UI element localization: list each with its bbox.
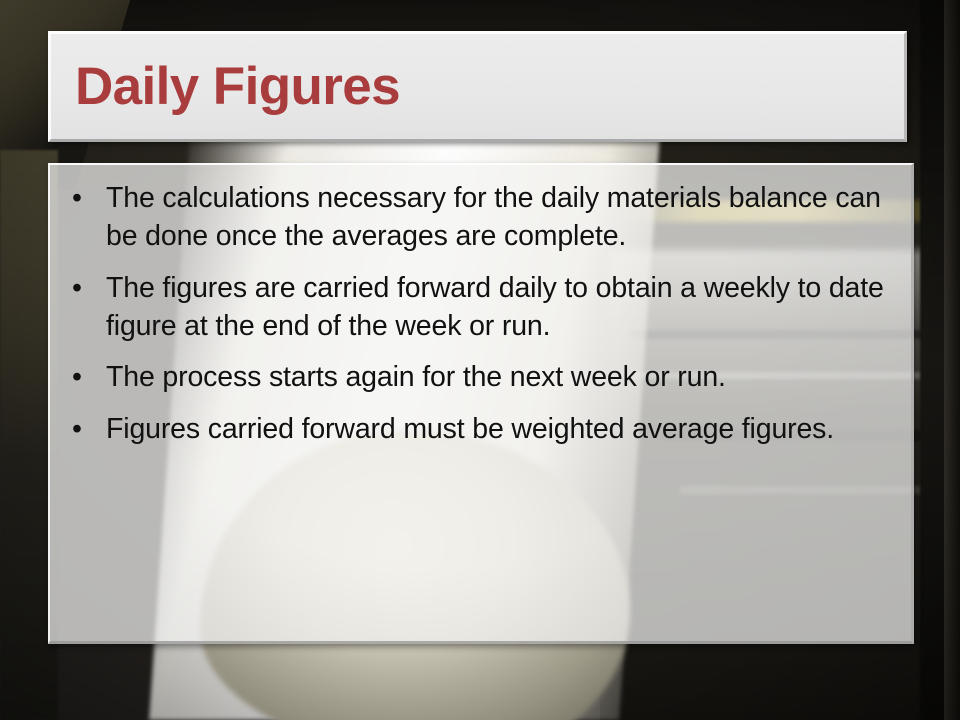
- bullet-marker-icon: •: [72, 358, 82, 396]
- presentation-slide: Daily Figures • The calculations necessa…: [0, 0, 960, 720]
- list-item: • The calculations necessary for the dai…: [60, 179, 885, 256]
- list-item: • Figures carried forward must be weight…: [60, 410, 885, 448]
- bullet-marker-icon: •: [72, 179, 82, 217]
- slide-title: Daily Figures: [51, 59, 400, 115]
- list-item: • The figures are carried forward daily …: [60, 269, 885, 346]
- bullet-marker-icon: •: [72, 269, 82, 307]
- bullet-list: • The calculations necessary for the dai…: [60, 179, 885, 448]
- list-item-text: The process starts again for the next we…: [106, 361, 726, 393]
- bullet-marker-icon: •: [72, 410, 82, 448]
- list-item: • The process starts again for the next …: [60, 358, 885, 396]
- list-item-text: The calculations necessary for the daily…: [106, 182, 881, 252]
- title-placeholder[interactable]: Daily Figures: [48, 31, 907, 142]
- content-placeholder[interactable]: • The calculations necessary for the dai…: [48, 163, 914, 644]
- list-item-text: Figures carried forward must be weighted…: [106, 413, 834, 445]
- list-item-text: The figures are carried forward daily to…: [106, 272, 884, 342]
